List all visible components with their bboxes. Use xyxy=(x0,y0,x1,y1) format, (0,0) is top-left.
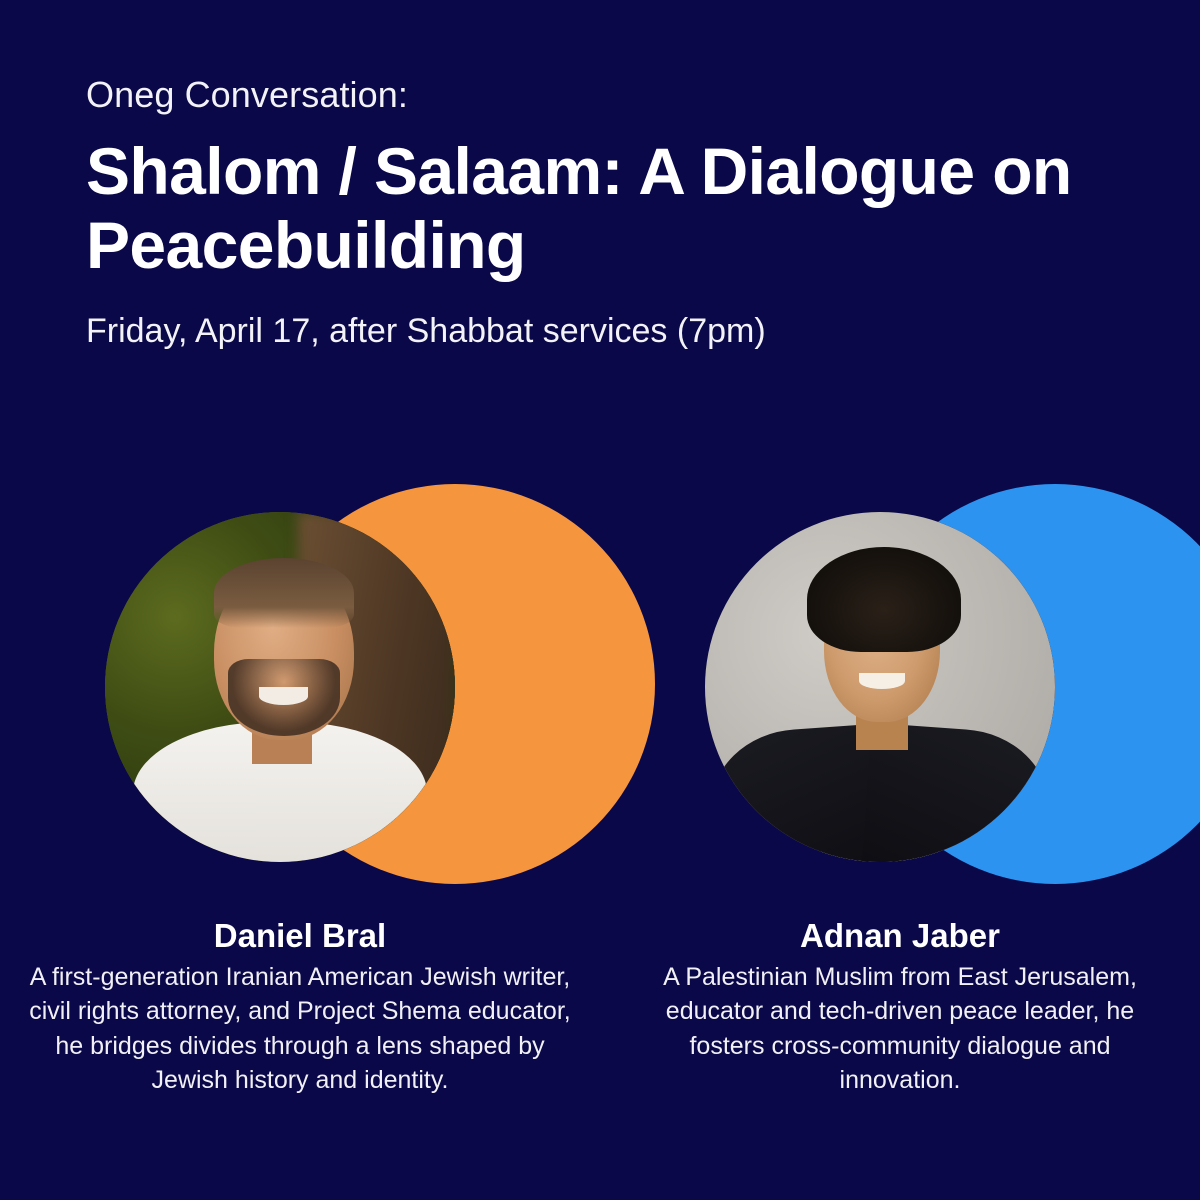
speaker-list: Daniel Bral A first-generation Iranian A… xyxy=(0,470,1200,1098)
speaker-name: Adnan Jaber xyxy=(800,916,1000,956)
page-title: Shalom / Salaam: A Dialogue on Peacebuil… xyxy=(86,135,1086,283)
portrait-adnan-jaber xyxy=(690,470,1110,890)
photo-background-foliage xyxy=(105,512,455,862)
event-datetime: Friday, April 17, after Shabbat services… xyxy=(86,309,1106,353)
photo-smile xyxy=(259,687,308,705)
avatar xyxy=(105,512,455,862)
speaker-bio: A first-generation Iranian American Jewi… xyxy=(20,960,580,1098)
avatar xyxy=(705,512,1055,862)
photo-smile xyxy=(859,673,905,689)
portrait-daniel-bral xyxy=(90,470,510,890)
photo-background-studio xyxy=(705,512,1055,862)
speaker-bio: A Palestinian Muslim from East Jerusalem… xyxy=(655,960,1145,1098)
eyebrow-label: Oneg Conversation: xyxy=(86,72,1106,117)
event-poster: Oneg Conversation: Shalom / Salaam: A Di… xyxy=(0,0,1200,1200)
speaker-card-daniel-bral: Daniel Bral A first-generation Iranian A… xyxy=(0,470,600,1098)
photo-hair xyxy=(807,547,961,652)
speaker-card-adnan-jaber: Adnan Jaber A Palestinian Muslim from Ea… xyxy=(600,470,1200,1098)
poster-header: Oneg Conversation: Shalom / Salaam: A Di… xyxy=(86,72,1106,353)
photo-hair xyxy=(214,558,354,628)
speaker-name: Daniel Bral xyxy=(214,916,386,956)
